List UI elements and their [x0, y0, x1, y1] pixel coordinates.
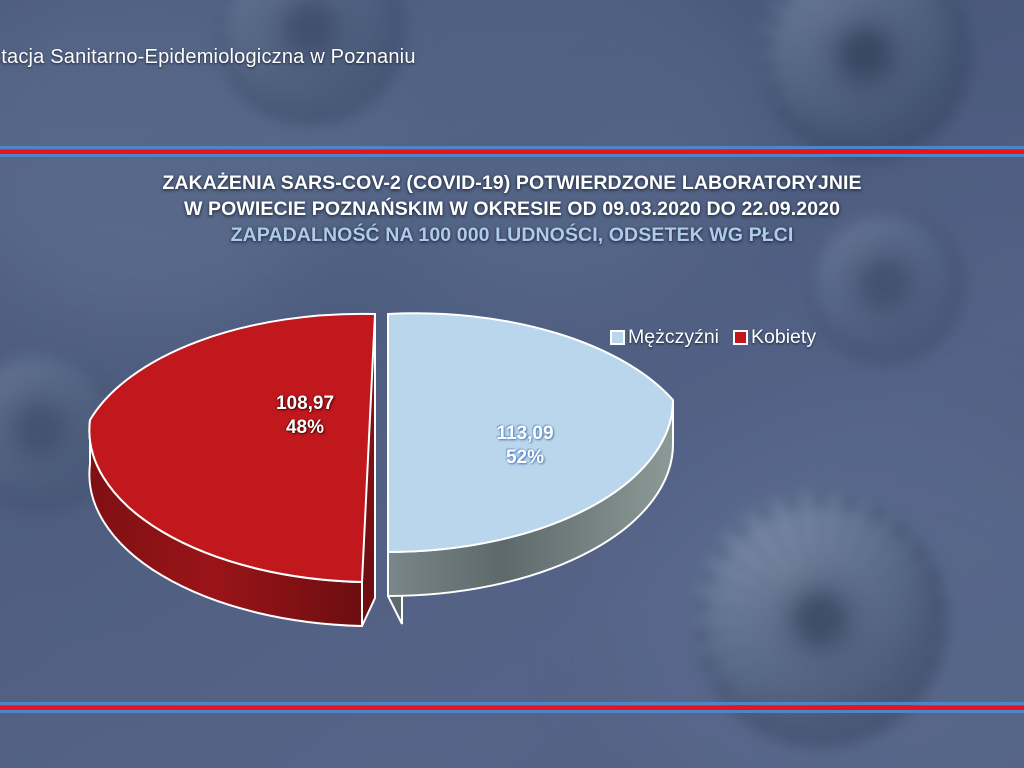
divider-rule-top — [0, 146, 1024, 157]
pie-chart: 108,97 48% 113,09 52% — [70, 296, 710, 664]
legend-label-kobiety: Kobiety — [751, 326, 816, 349]
organisation-name: wa Stacja Sanitarno-Epidemiologiczna w P… — [0, 46, 416, 69]
legend-label-mezczyzni: Mężczyźni — [628, 326, 719, 349]
pie-slice-kobiety[interactable] — [89, 314, 375, 626]
legend-item-kobiety[interactable]: Kobiety — [733, 326, 816, 349]
pie-label-mezczyzni-value: 113,09 — [450, 422, 600, 446]
pie-label-kobiety: 108,97 48% — [230, 392, 380, 440]
legend-item-mezczyzni[interactable]: Mężczyźni — [610, 326, 719, 349]
slide-canvas: wa Stacja Sanitarno-Epidemiologiczna w P… — [0, 0, 1024, 768]
rule-blue-upper — [0, 146, 1024, 149]
chart-title: ZAKAŻENIA SARS-COV-2 (COVID-19) POTWIERD… — [0, 170, 1024, 248]
divider-rule-bottom — [0, 702, 1024, 713]
pie-label-kobiety-percent: 48% — [230, 416, 380, 440]
rule-blue-lower-bottom — [0, 710, 1024, 713]
chart-legend: Mężczyźni Kobiety — [610, 326, 816, 349]
chart-title-line-3: ZAPADALNOŚĆ NA 100 000 LUDNOŚCI, ODSETEK… — [0, 222, 1024, 248]
pie-label-kobiety-value: 108,97 — [230, 392, 380, 416]
pie-chart-svg — [70, 296, 710, 664]
chart-title-line-1: ZAKAŻENIA SARS-COV-2 (COVID-19) POTWIERD… — [0, 170, 1024, 196]
rule-blue-lower — [0, 154, 1024, 157]
pie-label-mezczyzni-percent: 52% — [450, 446, 600, 470]
rule-blue-upper-bottom — [0, 702, 1024, 705]
legend-swatch-icon-mezczyzni — [610, 330, 625, 345]
legend-swatch-icon-kobiety — [733, 330, 748, 345]
pie-label-mezczyzni: 113,09 52% — [450, 422, 600, 470]
chart-title-line-2: W POWIECIE POZNAŃSKIM W OKRESIE OD 09.03… — [0, 196, 1024, 222]
